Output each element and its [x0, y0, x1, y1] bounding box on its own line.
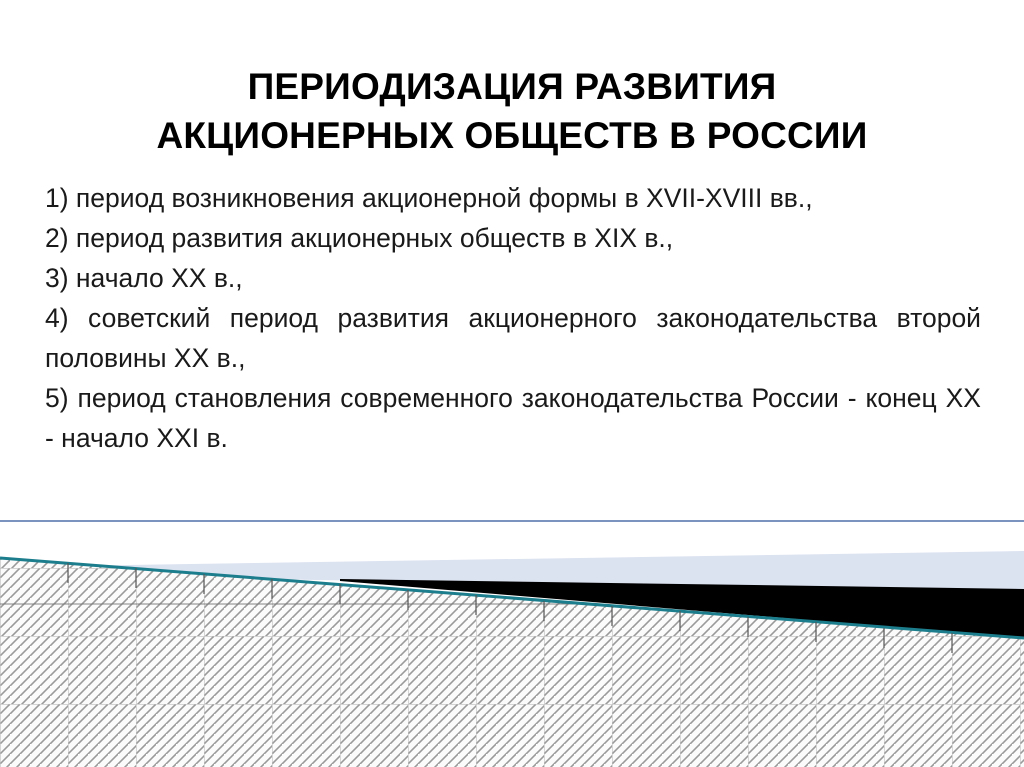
- list-item: 3) начало XX в.,: [45, 258, 981, 298]
- list-item: 2) период развития акционерных обществ в…: [45, 218, 981, 258]
- hatched-wedge-graphic: [0, 505, 1024, 767]
- list-item: 4) советский период развития акционерног…: [45, 298, 981, 378]
- list-item: 5) период становления современного закон…: [45, 378, 981, 458]
- periodization-list: 1) период возникновения акционерной форм…: [45, 178, 981, 458]
- list-item: 1) период возникновения акционерной форм…: [45, 178, 981, 218]
- page-title: ПЕРИОДИЗАЦИЯ РАЗВИТИЯ АКЦИОНЕРНЫХ ОБЩЕСТ…: [60, 63, 964, 161]
- decor-wedges-svg: [0, 505, 1024, 767]
- presentation-slide: ПЕРИОДИЗАЦИЯ РАЗВИТИЯ АКЦИОНЕРНЫХ ОБЩЕСТ…: [0, 0, 1024, 767]
